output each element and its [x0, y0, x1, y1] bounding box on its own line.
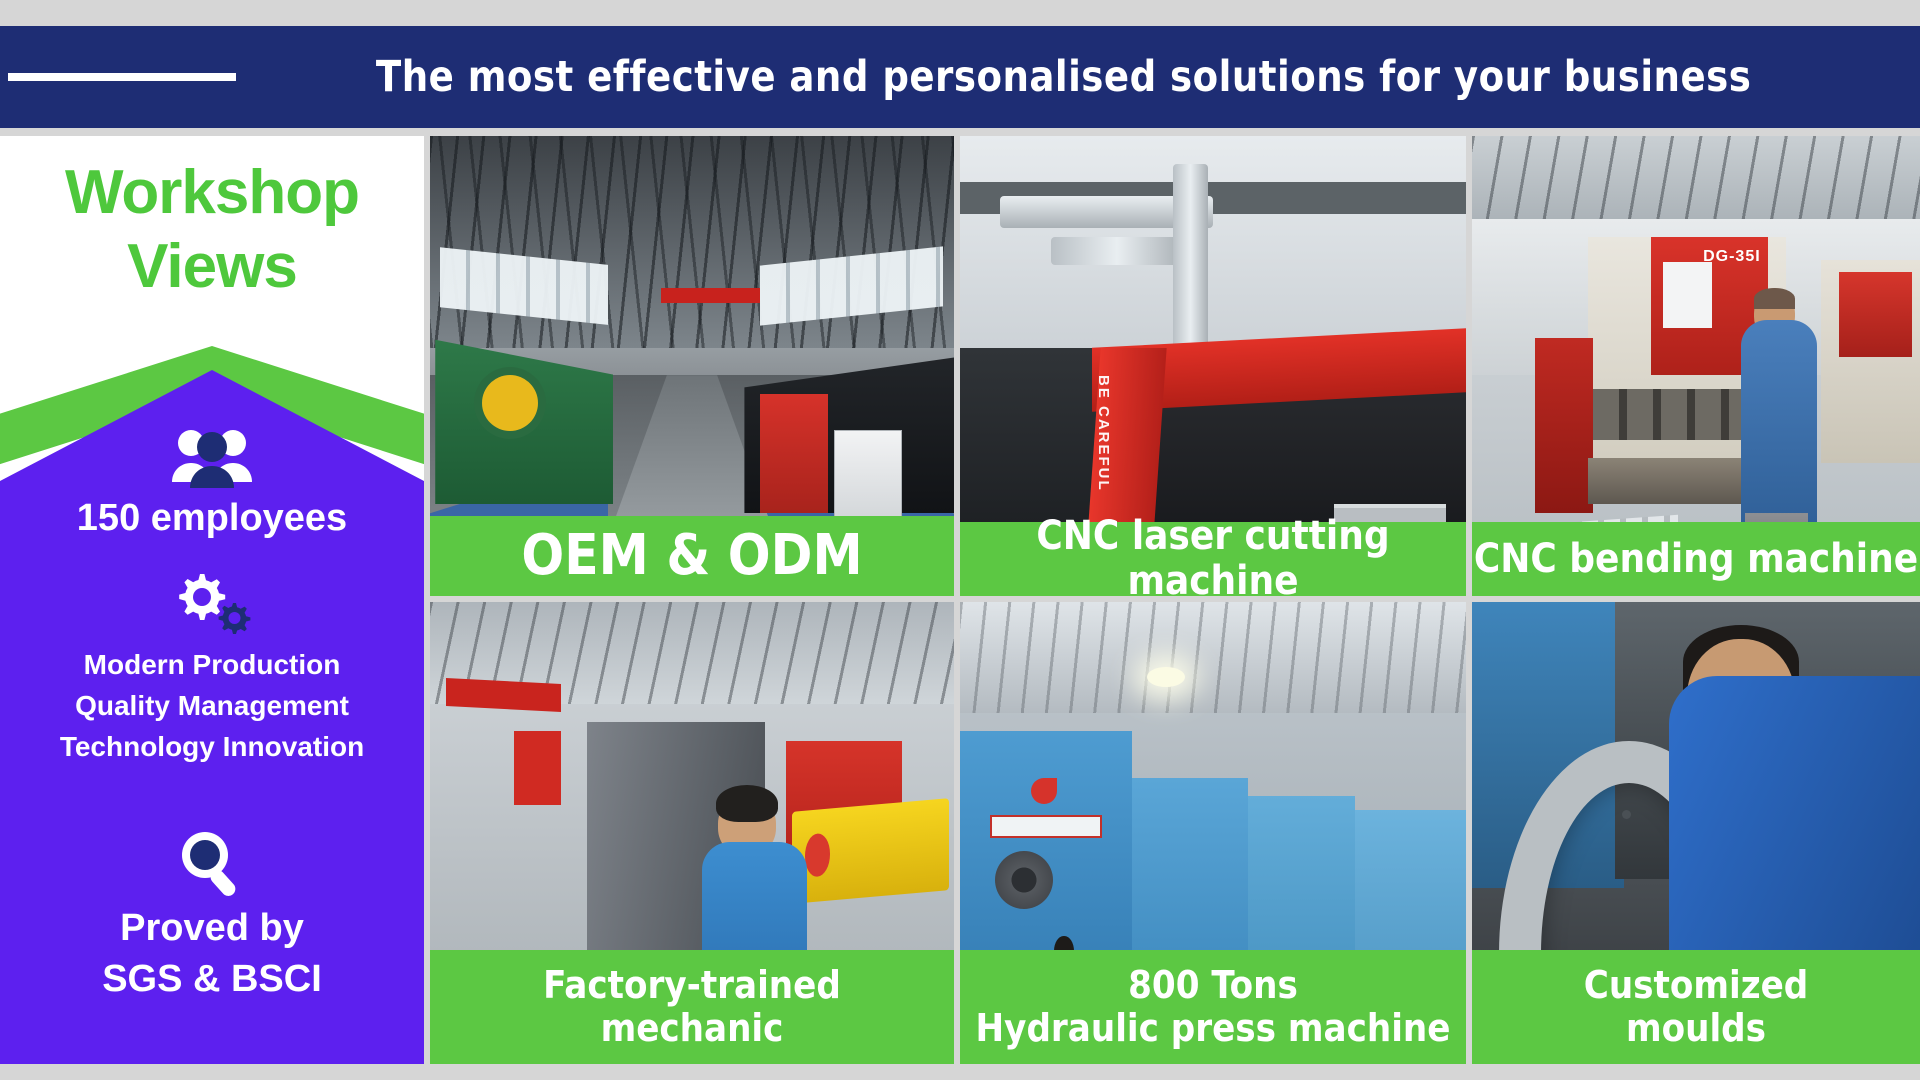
certification-line-2: SGS & BSCI — [0, 957, 424, 1002]
sidebar-feature-certification: Proved by SGS & BSCI — [0, 828, 424, 1002]
production-line-1: Modern Production — [0, 648, 424, 681]
caption-mould-line-1: Customized — [1584, 963, 1809, 1007]
sidebar-feature-production: Modern Production Quality Management Tec… — [0, 568, 424, 763]
caption-oem-odm: OEM & ODM — [430, 516, 954, 596]
caption-mech-line-2: mechanic — [601, 1006, 784, 1050]
sidebar-title-line-2: Views — [0, 230, 424, 304]
bending-machine-model-label: DG-35I — [1703, 248, 1761, 266]
photo-card-customized-moulds[interactable]: Customized moulds — [1472, 602, 1920, 1064]
caption-press-line-2: Hydraulic press machine — [976, 1006, 1451, 1050]
photo-card-factory-trained-mechanic[interactable]: Factory-trained mechanic — [430, 602, 954, 1064]
photo-card-cnc-laser[interactable]: BE CAREFUL CNC laser cutting machine — [960, 136, 1466, 596]
people-group-icon — [169, 426, 255, 488]
sidebar-panel: Workshop Views 150 employees — [0, 136, 424, 1064]
caption-mould-line-2: moulds — [1626, 1006, 1766, 1050]
photo-grid: OEM & ODM BE CAREFUL CNC laser cutting m… — [430, 136, 1920, 1064]
caption-hydraulic-press: 800 Tons Hydraulic press machine — [960, 950, 1466, 1064]
caption-factory-trained-mechanic: Factory-trained mechanic — [430, 950, 954, 1064]
caption-cnc-laser: CNC laser cutting machine — [960, 522, 1466, 596]
magnifier-icon — [172, 828, 252, 900]
caption-press-line-1: 800 Tons — [1128, 963, 1298, 1007]
sidebar-feature-employees: 150 employees — [0, 426, 424, 541]
machine-warning-text: BE CAREFUL — [1095, 375, 1112, 492]
sidebar-title-line-1: Workshop — [0, 156, 424, 230]
production-line-2: Quality Management — [0, 689, 424, 722]
caption-mech-line-1: Factory-trained — [543, 963, 841, 1007]
gears-icon — [166, 568, 258, 640]
header-rule-decoration — [8, 73, 236, 81]
content-stage: Workshop Views 150 employees — [0, 136, 1920, 1064]
header-banner: The most effective and personalised solu… — [0, 26, 1920, 128]
page-title: The most effective and personalised solu… — [270, 52, 1887, 102]
sidebar-title: Workshop Views — [0, 156, 424, 305]
photo-card-oem-odm[interactable]: OEM & ODM — [430, 136, 954, 596]
production-line-3: Technology Innovation — [0, 730, 424, 763]
certification-line-1: Proved by — [0, 906, 424, 951]
photo-card-hydraulic-press[interactable]: 800 Tons Hydraulic press machine — [960, 602, 1466, 1064]
caption-customized-moulds: Customized moulds — [1472, 950, 1920, 1064]
photo-card-cnc-bending[interactable]: DG-35I CNC bending machine — [1472, 136, 1920, 596]
caption-cnc-bending: CNC bending machine — [1472, 522, 1920, 596]
employees-label: 150 employees — [0, 496, 424, 541]
